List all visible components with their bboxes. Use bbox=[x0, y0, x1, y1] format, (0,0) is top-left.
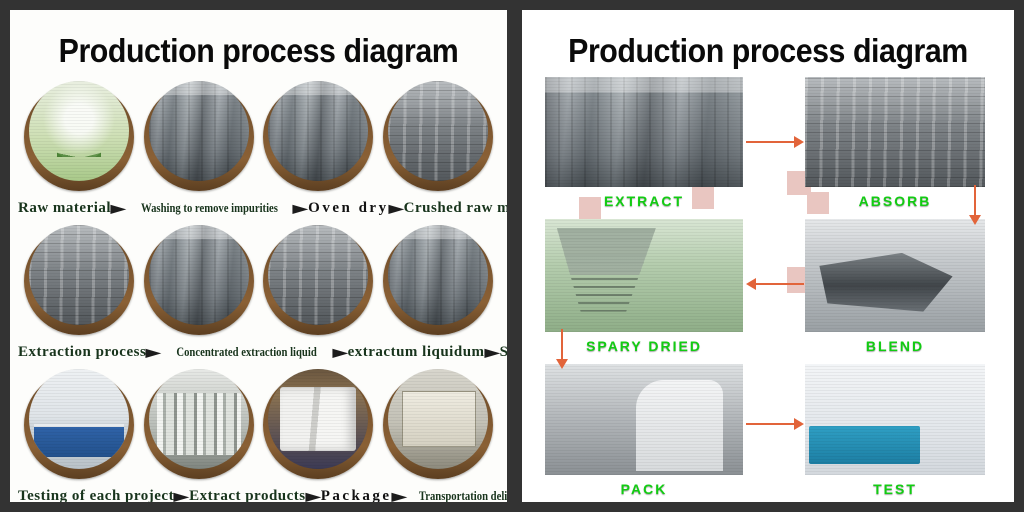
stage-cell-blend[interactable]: BLEND bbox=[805, 219, 985, 354]
arrow-right-icon: ▶ bbox=[172, 490, 191, 502]
stage-cell-spary-dried[interactable]: SPARY DRIED bbox=[545, 219, 743, 354]
process-step-circle[interactable] bbox=[24, 81, 134, 193]
arrow-right-icon: ▶ bbox=[291, 202, 310, 214]
flow-arrow-absorb-to-blend bbox=[968, 185, 982, 225]
process-row-3-images bbox=[10, 369, 507, 481]
extractum-liquidum-vessels-photo bbox=[268, 225, 368, 325]
process-row-3: Testing of each project ▶ Extract produc… bbox=[10, 369, 507, 502]
flow-arrow-pack-to-test bbox=[746, 417, 804, 431]
process-step-circle[interactable] bbox=[383, 369, 493, 481]
left-panel-rows: Raw material ▶ Washing to remove impurit… bbox=[10, 81, 507, 502]
process-step-label: Raw material bbox=[18, 200, 111, 217]
process-step-circle[interactable] bbox=[144, 81, 254, 193]
arrow-right-icon: ▶ bbox=[483, 346, 502, 358]
arrow-right-icon: ▶ bbox=[390, 490, 409, 502]
process-step-label: Concentrated extraction liquid bbox=[177, 344, 317, 360]
arrow-right-icon: ▶ bbox=[109, 202, 128, 214]
crushing-line-equipment-photo bbox=[388, 81, 488, 181]
stage-label-absorb: ABSORB bbox=[805, 193, 985, 209]
process-step-label: Washing to remove impurities bbox=[141, 200, 278, 216]
process-step-label: Extraction process bbox=[18, 344, 146, 361]
process-step-circle[interactable] bbox=[383, 225, 493, 337]
process-row-3-labels: Testing of each project ▶ Extract produc… bbox=[10, 481, 507, 502]
extract-product-cans-photo bbox=[149, 369, 249, 469]
arrow-right-icon: ▶ bbox=[331, 346, 350, 358]
quality-test-laboratory-photo bbox=[805, 364, 985, 475]
palletized-cartons-shipping-photo bbox=[388, 369, 488, 469]
flow-arrow-extract-to-absorb bbox=[746, 135, 804, 149]
process-step-circle[interactable] bbox=[24, 225, 134, 337]
concentration-tanks-photo bbox=[149, 225, 249, 325]
process-step-label: Transportation delivery bbox=[419, 488, 507, 502]
process-step-circle[interactable] bbox=[263, 81, 373, 193]
stage-label-spary-dried: SPARY DRIED bbox=[545, 338, 743, 354]
process-step-circle[interactable] bbox=[263, 225, 373, 337]
process-row-1-images bbox=[10, 81, 507, 193]
stage-label-extract: EXTRACT bbox=[545, 193, 743, 209]
right-panel-title: Production process diagram bbox=[542, 10, 995, 67]
process-step-label: extractum liquidum bbox=[348, 344, 485, 361]
blending-machine-operator-photo bbox=[805, 219, 985, 332]
left-panel-title: Production process diagram bbox=[30, 10, 487, 67]
flow-arrow-spary-dried-to-pack bbox=[555, 329, 569, 369]
raw-material-plant-extract-photo bbox=[29, 81, 129, 181]
stage-cell-absorb[interactable]: ABSORB bbox=[805, 77, 985, 209]
process-step-label: Testing of each project bbox=[18, 488, 174, 503]
process-step-circle[interactable] bbox=[383, 81, 493, 193]
stage-label-blend: BLEND bbox=[805, 338, 985, 354]
oven-drying-equipment-photo bbox=[268, 81, 368, 181]
laboratory-test-bench-photo bbox=[29, 369, 129, 469]
process-row-2-images bbox=[10, 225, 507, 337]
process-step-circle[interactable] bbox=[24, 369, 134, 481]
process-row-1-labels: Raw material ▶ Washing to remove impurit… bbox=[10, 193, 507, 223]
process-row-1: Raw material ▶ Washing to remove impurit… bbox=[10, 81, 507, 225]
arrow-right-icon: ▶ bbox=[387, 202, 406, 214]
right-panel: Production process diagram EXTRACT bbox=[522, 10, 1014, 502]
process-step-circle[interactable] bbox=[263, 369, 373, 481]
spray-drying-room-photo bbox=[388, 225, 488, 325]
packaging-white-bags-photo bbox=[268, 369, 368, 469]
process-step-label: Crushed raw materials bbox=[404, 200, 507, 217]
stage-label-test: TEST bbox=[805, 481, 985, 497]
flow-arrow-blend-to-spary-dried bbox=[746, 277, 804, 291]
arrow-right-icon: ▶ bbox=[144, 346, 163, 358]
washing-tanks-equipment-photo bbox=[149, 81, 249, 181]
right-panel-grid: EXTRACT ABSORB SPARY DRIED bbox=[522, 77, 1014, 497]
extraction-plant-stairs-photo bbox=[29, 225, 129, 325]
absorption-column-equipment-photo bbox=[805, 77, 985, 187]
process-step-label: Oven dry bbox=[308, 200, 388, 217]
spray-dryer-green-room-photo bbox=[545, 219, 743, 332]
process-step-circle[interactable] bbox=[144, 225, 254, 337]
left-panel: Production process diagram bbox=[10, 10, 507, 502]
arrow-right-icon: ▶ bbox=[304, 490, 323, 502]
stage-cell-test[interactable]: TEST bbox=[805, 364, 985, 497]
process-row-2: Extraction process ▶ Concentrated extrac… bbox=[10, 225, 507, 369]
stage-cell-extract[interactable]: EXTRACT bbox=[545, 77, 743, 209]
stage-label-pack: PACK bbox=[545, 481, 743, 497]
process-step-label: Package bbox=[321, 488, 392, 503]
process-row-2-labels: Extraction process ▶ Concentrated extrac… bbox=[10, 337, 507, 367]
extraction-tank-hall-photo bbox=[545, 77, 743, 187]
process-step-label: Extract products bbox=[189, 488, 305, 503]
process-step-circle[interactable] bbox=[144, 369, 254, 481]
stage-cell-pack[interactable]: PACK bbox=[545, 364, 743, 497]
diagram-board: Production process diagram bbox=[0, 0, 1024, 512]
packing-operator-cleanroom-photo bbox=[545, 364, 743, 475]
